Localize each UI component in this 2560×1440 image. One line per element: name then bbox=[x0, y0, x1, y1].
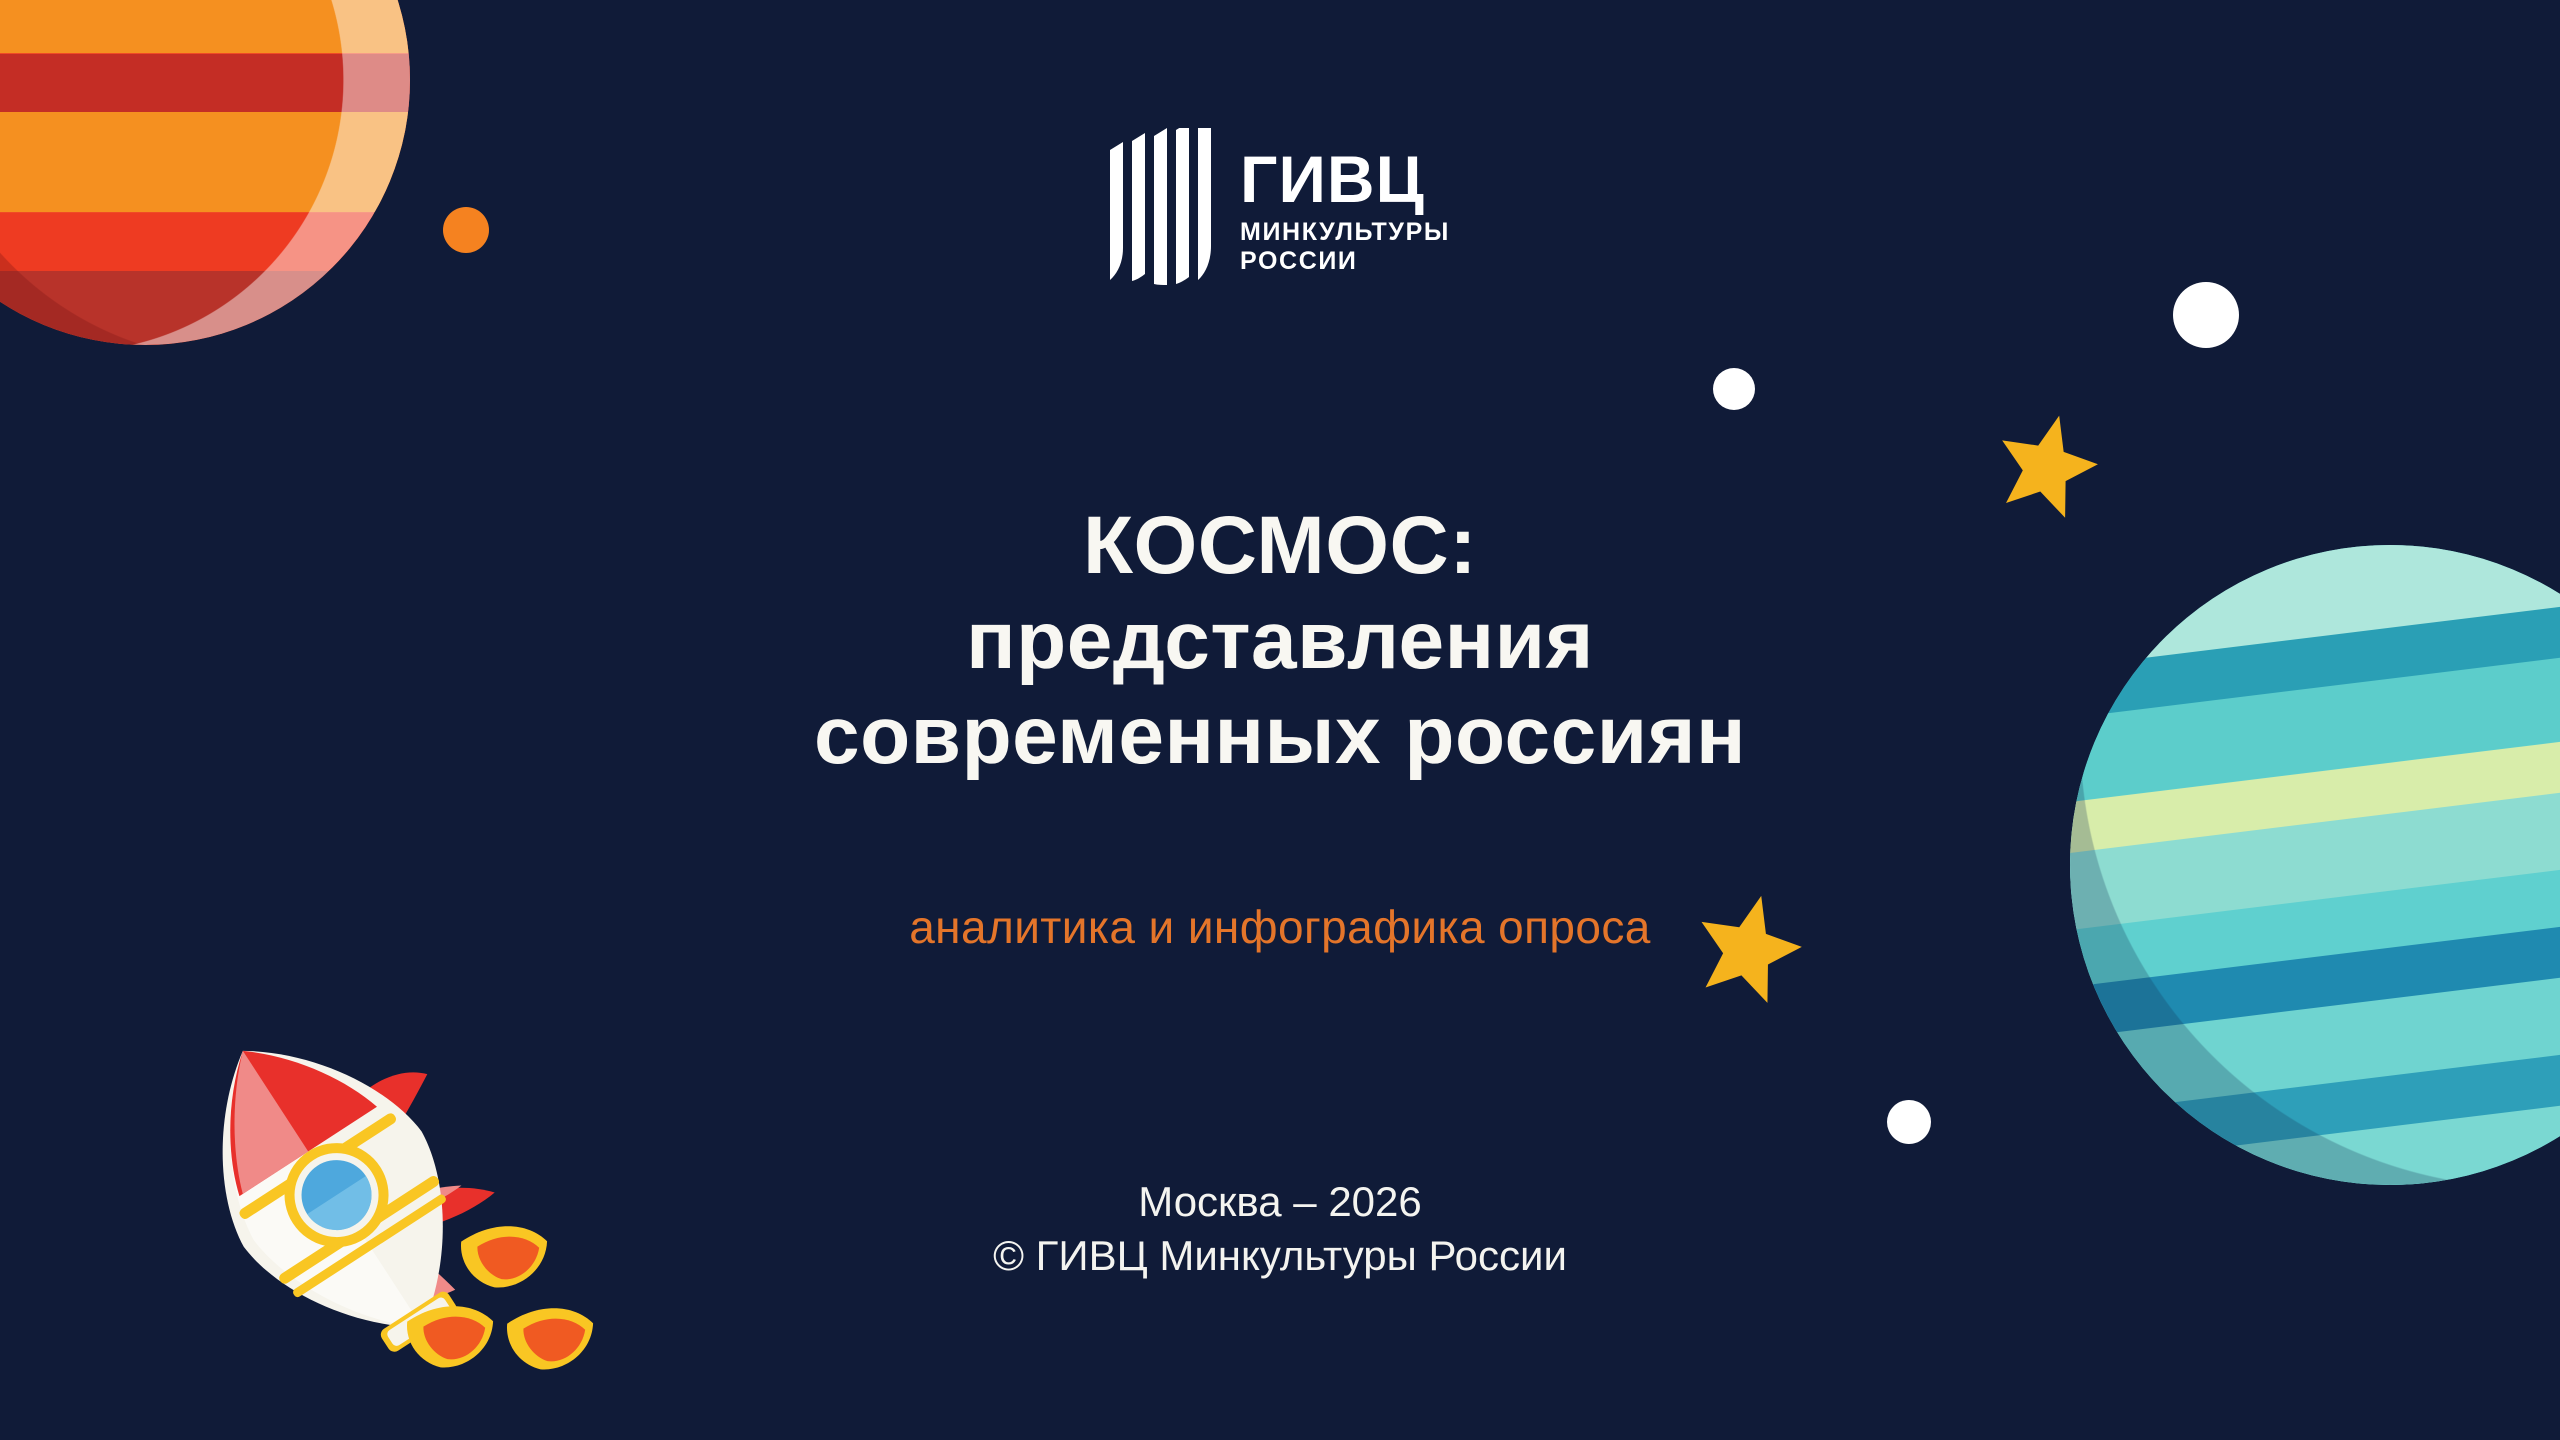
title-line-2: представления bbox=[0, 593, 2560, 688]
page-title: КОСМОС: представления современных россия… bbox=[0, 498, 2560, 783]
logo-ministry: МИНКУЛЬТУРЫ РОССИИ bbox=[1240, 218, 1450, 276]
givc-logo: ГИВЦ МИНКУЛЬТУРЫ РОССИИ bbox=[0, 128, 2560, 296]
subtitle: аналитика и инфографика опроса bbox=[0, 900, 2560, 954]
title-line-1: КОСМОС: bbox=[0, 498, 2560, 593]
logo-brand: ГИВЦ bbox=[1240, 148, 1450, 211]
logo-wordmark: ГИВЦ МИНКУЛЬТУРЫ РОССИИ bbox=[1240, 148, 1450, 277]
givc-shield-bars-icon bbox=[1110, 128, 1214, 296]
title-slide: ГИВЦ МИНКУЛЬТУРЫ РОССИИ КОСМОС: представ… bbox=[0, 0, 2560, 1440]
footer-copyright: © ГИВЦ Минкультуры России bbox=[0, 1229, 2560, 1283]
title-line-3: современных россиян bbox=[0, 688, 2560, 783]
slide-content: ГИВЦ МИНКУЛЬТУРЫ РОССИИ КОСМОС: представ… bbox=[0, 0, 2560, 1440]
subtitle-text: аналитика и инфографика опроса bbox=[909, 901, 1651, 953]
footer-place-year: Москва – 2026 bbox=[0, 1175, 2560, 1229]
slide-footer: Москва – 2026 © ГИВЦ Минкультуры России bbox=[0, 1175, 2560, 1283]
